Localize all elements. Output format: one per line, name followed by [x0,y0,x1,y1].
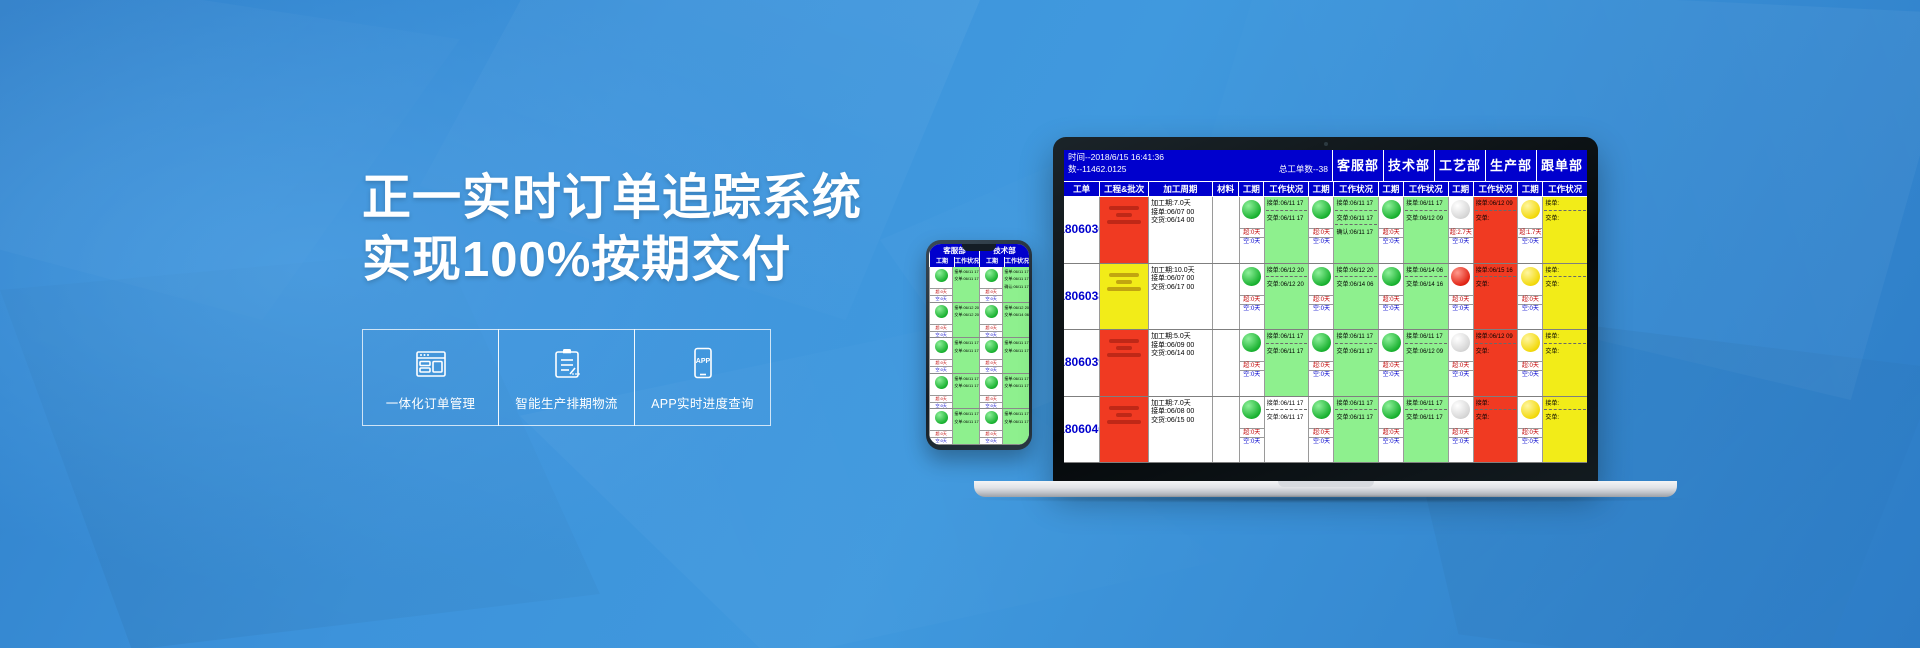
overdue-tag: 超:0天 [1309,361,1333,370]
phone-status-cell-cs[interactable]: 接单:06/11 17交单:06/11 17 [952,267,979,302]
idle-tag: 空:0天 [980,437,1002,444]
column-header-8[interactable]: 工期 [1378,182,1403,196]
duration-cell-1[interactable]: 超:0天空:0天 [1308,197,1333,263]
status-light-green [985,376,998,389]
feature-label: APP实时进度查询 [651,393,754,412]
status-light-green [935,411,948,424]
column-header-4[interactable]: 工期 [1238,182,1263,196]
status-text: 交单:06/11 17 [1334,212,1378,224]
project-batch-cell[interactable] [1099,264,1148,330]
work-status-cell-4[interactable]: 接单:交单: [1542,264,1587,330]
overdue-tag: 超:0天 [1309,428,1333,437]
overdue-tag: 超:0天 [980,324,1002,331]
status-text: 交单:06/11 17 [953,346,979,353]
phone-status-cell-cs[interactable]: 接单:06/11 17交单:06/11 17 [952,374,979,409]
status-text: 确认:06/11 17 [1334,226,1378,238]
phone-status-cell-tech[interactable]: 接单:06/11 17交单:06/11 17 [1002,338,1029,373]
status-light-green [1312,400,1331,419]
duration-cell-4[interactable]: 超:1.7天空:0天 [1517,197,1542,263]
status-text: 接单: [1543,197,1587,209]
column-header-9[interactable]: 工作状况 [1403,182,1448,196]
material-cell[interactable] [1212,197,1239,263]
status-text: 交单: [1474,411,1518,423]
phone-screen: 客服部 技术部 工期 工作状况 工期 工作状况 超:0天空:0天接单:06/11… [929,244,1029,445]
status-light-red [1451,267,1470,286]
status-text: 交单:06/11 17 [1003,346,1029,353]
idle-tag: 空:0天 [1379,437,1403,446]
phone-duration-cell-cs[interactable]: 超:0天空:0天 [929,338,952,373]
dashboard-topbar: 时间--2018/6/15 16:41:36 数--11462.0125 总工单… [1064,150,1587,182]
phone-col-1: 工作状况 [954,257,979,267]
processing-cycle-cell[interactable]: 加工期:7.0天接单:06/08 00交货:06/15 00 [1148,397,1212,463]
table-row[interactable]: 1806038加工期:10.0天接单:06/07 00交货:06/17 00超:… [1064,264,1587,331]
duration-cell-3[interactable]: 超:0天空:0天 [1448,330,1473,396]
status-text: 交单: [1543,278,1587,290]
idle-tag: 空:0天 [1309,437,1333,446]
idle-tag: 空:0天 [930,402,952,409]
overdue-tag: 超:0天 [1449,295,1473,304]
idle-tag: 空:0天 [1518,237,1542,246]
idle-tag: 空:0天 [1240,370,1264,379]
status-text: 交单:06/11 17 [1265,411,1309,423]
status-text: 交单:06/11 17 [953,274,979,281]
status-text: 交单:06/14 06 [1003,310,1029,317]
phone-table-row[interactable]: 超:0天空:0天接单:06/11 17交单:06/11 17超:0天空:0天接单… [929,338,1029,374]
work-status-cell-3[interactable]: 接单:交单: [1473,397,1518,463]
column-header-row: 工单工程&批次加工周期材料工期工作状况工期工作状况工期工作状况工期工作状况工期工… [1064,182,1587,197]
status-light-green [1382,200,1401,219]
column-header-12[interactable]: 工期 [1517,182,1542,196]
clipboard-icon [552,344,582,384]
overdue-tag: 超:0天 [1240,228,1264,237]
duration-cell-2[interactable]: 超:0天空:0天 [1378,197,1403,263]
status-light-green [1382,267,1401,286]
idle-tag: 空:0天 [1240,437,1264,446]
overdue-tag: 超:0天 [1379,228,1403,237]
status-text: 交单:06/12 20 [1265,278,1309,290]
topbar-total: 总工单数--38 [1279,163,1328,175]
webcam-icon [1324,142,1328,146]
status-text: 接单:06/11 17 [1003,267,1029,274]
status-light-grey [1451,200,1470,219]
status-text: 接单:06/11 17 [1265,197,1309,209]
work-status-cell-4[interactable]: 接单:交单: [1542,330,1587,396]
feature-card-order-management[interactable]: 一体化订单管理 [362,329,499,426]
phone-table-row[interactable]: 超:0天空:0天接单:06/11 17交单:06/11 17超:0天空:0天接单… [929,267,1029,303]
column-header-11[interactable]: 工作状况 [1473,182,1518,196]
column-header-10[interactable]: 工期 [1448,182,1473,196]
overdue-tag: 超:0天 [930,395,952,402]
idle-tag: 空:0天 [980,331,1002,338]
status-light-yellow [1521,400,1540,419]
duration-cell-0[interactable]: 超:0天空:0天 [1239,330,1264,396]
work-status-cell-2[interactable]: 接单:06/11 17交单:06/11 17 [1403,397,1448,463]
status-light-green [1312,200,1331,219]
status-light-green [985,305,998,318]
table-row[interactable]: 1806039加工期:5.0天接单:06/09 00交货:06/14 00超:0… [1064,330,1587,397]
phone-status-cell-tech[interactable]: 接单:06/12 20交单:06/14 06 [1002,303,1029,338]
idle-tag: 空:0天 [980,366,1002,373]
hero-copy: 正一实时订单追踪系统 实现100%按期交付 一体化订单管理 [362,168,1002,426]
work-status-cell-2[interactable]: 接单:06/11 17交单:06/12 09 [1403,197,1448,263]
idle-tag: 空:0天 [1449,237,1473,246]
status-text: 接单:06/11 17 [1334,397,1378,409]
phone-duration-cell-tech[interactable]: 超:0天空:0天 [979,303,1002,338]
status-text: 交单: [1543,411,1587,423]
idle-tag: 空:0天 [930,295,952,302]
status-light-green [985,411,998,424]
phone-table-row[interactable]: 超:0天空:0天接单:06/12 20交单:06/12 20超:0天空:0天接单… [929,303,1029,339]
duration-cell-3[interactable]: 超:0天空:0天 [1448,397,1473,463]
overdue-tag: 超:0天 [1309,228,1333,237]
dashboard-icon [414,344,448,384]
overdue-tag: 超:0天 [1449,361,1473,370]
department-header-0[interactable]: 客服部 [1332,150,1383,181]
phone-col-2: 工期 [979,257,1004,267]
work-status-cell-0[interactable]: 接单:06/11 17交单:06/11 17 [1264,197,1309,263]
feature-card-app-query[interactable]: APP APP实时进度查询 [634,329,771,426]
work-status-cell-3[interactable]: 接单:06/12 09交单: [1473,330,1518,396]
duration-cell-0[interactable]: 超:0天空:0天 [1239,197,1264,263]
overdue-tag: 超:0天 [930,324,952,331]
column-header-6[interactable]: 工期 [1308,182,1333,196]
work-status-cell-1[interactable]: 接单:06/11 17交单:06/11 17 [1333,330,1378,396]
phone-duration-cell-cs[interactable]: 超:0天空:0天 [929,303,952,338]
work-order-cell[interactable]: 1806036 [1064,197,1099,263]
column-header-2[interactable]: 加工周期 [1148,182,1212,196]
duration-cell-0[interactable]: 超:0天空:0天 [1239,264,1264,330]
status-text: 接单:06/12 20 [1003,303,1029,310]
status-text: 交单:06/11 17 [953,417,979,424]
status-text: 接单:06/11 17 [1404,397,1448,409]
status-text: 接单: [1543,264,1587,276]
phone-mockup: 客服部 技术部 工期 工作状况 工期 工作状况 超:0天空:0天接单:06/11… [926,240,1032,450]
idle-tag: 空:0天 [1309,370,1333,379]
overdue-tag: 超:0天 [980,430,1002,437]
status-text: 接单: [1474,397,1518,409]
duration-cell-0[interactable]: 超:0天空:0天 [1239,397,1264,463]
idle-tag: 空:0天 [1449,304,1473,313]
overdue-tag: 超:0天 [980,395,1002,402]
table-row[interactable]: 1806040加工期:7.0天接单:06/08 00交货:06/15 00超:0… [1064,397,1587,464]
phone-table-row[interactable]: 超:0天空:0天接单:06/11 17交单:06/11 17超:0天空:0天接单… [929,409,1029,445]
column-header-3[interactable]: 材料 [1212,182,1239,196]
processing-cycle-cell[interactable]: 加工期:7.0天接单:06/07 00交货:06/14 00 [1148,197,1212,263]
overdue-tag: 超:0天 [1379,428,1403,437]
duration-cell-2[interactable]: 超:0天空:0天 [1378,264,1403,330]
status-text: 接单:06/12 20 [1265,264,1309,276]
phone-status-cell-cs[interactable]: 接单:06/11 17交单:06/11 17 [952,338,979,373]
idle-tag: 空:0天 [1379,370,1403,379]
laptop-base-shadow [963,495,1688,503]
idle-tag: 空:0天 [1449,437,1473,446]
work-status-cell-1[interactable]: 接单:06/11 17交单:06/11 17 [1333,397,1378,463]
status-text: 交单:06/14 06 [1334,278,1378,290]
duration-cell-1[interactable]: 超:0天空:0天 [1308,397,1333,463]
phone-duration-cell-cs[interactable]: 超:0天空:0天 [929,409,952,444]
status-text: 接单:06/11 17 [1003,374,1029,381]
status-text: 交单:06/12 09 [1404,345,1448,357]
status-text: 接单:06/11 17 [953,267,979,274]
phone-duration-cell-cs[interactable]: 超:0天空:0天 [929,374,952,409]
status-text: 交单:06/11 17 [1334,411,1378,423]
status-text: 交单:06/11 17 [1003,417,1029,424]
dashboard-table-body[interactable]: 1806036加工期:7.0天接单:06/07 00交货:06/14 00超:0… [1064,197,1587,463]
status-light-green [935,340,948,353]
idle-tag: 空:0天 [1309,237,1333,246]
overdue-tag: 超:0天 [930,288,952,295]
phone-status-cell-tech[interactable]: 接单:06/11 17交单:06/11 17确认:06/11 17 [1002,267,1029,302]
idle-tag: 空:0天 [980,295,1002,302]
idle-tag: 空:0天 [1379,304,1403,313]
status-light-green [1242,267,1261,286]
status-text: 接单:06/11 17 [1334,197,1378,209]
status-text: 交单:06/11 17 [1265,345,1309,357]
status-light-grey [1451,333,1470,352]
status-text: 交单:06/11 17 [1003,274,1029,281]
topbar-count: 数--11462.0125 [1068,163,1126,175]
phone-duration-cell-tech[interactable]: 超:0天空:0天 [979,267,1002,302]
idle-tag: 空:0天 [980,402,1002,409]
status-text: 交单:06/11 17 [1334,345,1378,357]
status-text: 接单:06/12 09 [1474,330,1518,342]
status-text: 交单:06/11 17 [953,381,979,388]
phone-notch [962,244,996,251]
phone-column-header: 工期 工作状况 工期 工作状况 [929,257,1029,267]
status-light-green [935,269,948,282]
phone-duration-cell-cs[interactable]: 超:0天空:0天 [929,267,952,302]
phone-table-row[interactable]: 超:0天空:0天接单:06/11 17交单:06/11 17超:0天空:0天接单… [929,374,1029,410]
status-light-green [1312,333,1331,352]
status-text: 交单:06/11 17 [1404,411,1448,423]
material-cell[interactable] [1212,264,1239,330]
work-status-cell-4[interactable]: 接单:交单: [1542,197,1587,263]
status-text: 接单:06/15 16 [1474,264,1518,276]
status-light-green [1382,400,1401,419]
phone-table-body[interactable]: 超:0天空:0天接单:06/11 17交单:06/11 17超:0天空:0天接单… [929,267,1029,445]
department-header-3[interactable]: 生产部 [1485,150,1536,181]
work-order-cell[interactable]: 1806040 [1064,397,1099,463]
work-status-cell-2[interactable]: 接单:06/11 17交单:06/12 09 [1403,330,1448,396]
headline-line-2: 实现100%按期交付 [362,230,1002,292]
laptop-lid: 时间--2018/6/15 16:41:36 数--11462.0125 总工单… [1053,137,1598,485]
status-text: 交单:06/11 17 [1265,212,1309,224]
status-text: 接单:06/11 17 [1003,409,1029,416]
status-text: 交单:06/14 16 [1404,278,1448,290]
column-header-13[interactable]: 工作状况 [1542,182,1587,196]
status-text: 接单:06/11 17 [1003,338,1029,345]
overdue-tag: 超:0天 [1379,361,1403,370]
phone-col-3: 工作状况 [1004,257,1029,267]
status-light-green [1312,267,1331,286]
status-light-green [985,269,998,282]
work-status-cell-4[interactable]: 接单:交单: [1542,397,1587,463]
overdue-tag: 超:1.7天 [1518,228,1542,237]
idle-tag: 空:0天 [1518,370,1542,379]
overdue-tag: 超:0天 [1518,295,1542,304]
overdue-tag: 超:0天 [1240,428,1264,437]
status-text: 交单: [1474,212,1518,224]
status-light-green [1242,333,1261,352]
duration-cell-2[interactable]: 超:0天空:0天 [1378,397,1403,463]
overdue-tag: 超:0天 [1309,295,1333,304]
status-text: 交单: [1543,212,1587,224]
hero-banner: 正一实时订单追踪系统 实现100%按期交付 一体化订单管理 [0,0,1920,648]
status-light-grey [1451,400,1470,419]
headline-line-1: 正一实时订单追踪系统 [362,168,1002,230]
work-status-cell-2[interactable]: 接单:06/14 06交单:06/14 16 [1403,264,1448,330]
feature-label: 智能生产排期物流 [515,393,617,412]
phone-status-cell-tech[interactable]: 接单:06/11 17交单:06/11 17 [1002,409,1029,444]
order-tracking-dashboard: 时间--2018/6/15 16:41:36 数--11462.0125 总工单… [1064,150,1587,463]
project-batch-cell[interactable] [1099,397,1148,463]
overdue-tag: 超:0天 [1449,428,1473,437]
work-status-cell-1[interactable]: 接单:06/12 20交单:06/14 06 [1333,264,1378,330]
column-header-1[interactable]: 工程&批次 [1099,182,1148,196]
work-status-cell-0[interactable]: 接单:06/11 17交单:06/11 17 [1264,330,1309,396]
status-light-green [935,305,948,318]
status-text: 交单: [1474,278,1518,290]
idle-tag: 空:0天 [930,331,952,338]
status-text: 接单:06/12 20 [1334,264,1378,276]
status-text: 交单: [1474,345,1518,357]
status-text: 接单:06/11 17 [953,409,979,416]
status-text: 接单:06/11 17 [1334,330,1378,342]
feature-label: 一体化订单管理 [386,393,476,412]
phone-col-0: 工期 [929,257,954,267]
duration-cell-1[interactable]: 超:0天空:0天 [1308,330,1333,396]
overdue-tag: 超:0天 [930,359,952,366]
phone-duration-cell-tech[interactable]: 超:0天空:0天 [979,338,1002,373]
duration-cell-3[interactable]: 超:2.7天空:0天 [1448,197,1473,263]
status-text: 接单:06/11 17 [1265,397,1309,409]
laptop-screen: 时间--2018/6/15 16:41:36 数--11462.0125 总工单… [1064,150,1587,463]
material-cell[interactable] [1212,330,1239,396]
work-status-cell-3[interactable]: 接单:06/12 09交单: [1473,197,1518,263]
work-status-cell-0[interactable]: 接单:06/11 17交单:06/11 17 [1264,397,1309,463]
project-batch-cell[interactable] [1099,197,1148,263]
status-text: 接单: [1543,397,1587,409]
idle-tag: 空:0天 [930,366,952,373]
phone-status-cell-tech[interactable]: 接单:06/11 17交单:06/11 17 [1002,374,1029,409]
material-cell[interactable] [1212,397,1239,463]
overdue-tag: 超:0天 [930,430,952,437]
work-order-cell[interactable]: 1806038 [1064,264,1099,330]
duration-cell-3[interactable]: 超:0天空:0天 [1448,264,1473,330]
status-text: 接单:06/11 17 [953,374,979,381]
duration-cell-4[interactable]: 超:0天空:0天 [1517,330,1542,396]
status-light-yellow [1521,333,1540,352]
feature-card-production-scheduling[interactable]: 智能生产排期物流 [498,329,635,426]
project-batch-cell[interactable] [1099,330,1148,396]
idle-tag: 空:0天 [1240,237,1264,246]
status-text: 交单:06/12 20 [953,310,979,317]
work-order-cell[interactable]: 1806039 [1064,330,1099,396]
svg-text:APP: APP [695,358,710,365]
work-status-cell-1[interactable]: 接单:06/11 17交单:06/11 17确认:06/11 17 [1333,197,1378,263]
topbar-info: 时间--2018/6/15 16:41:36 数--11462.0125 总工单… [1064,150,1332,181]
status-text: 接单:06/11 17 [1404,330,1448,342]
column-header-5[interactable]: 工作状况 [1263,182,1308,196]
overdue-tag: 超:0天 [1240,295,1264,304]
status-light-yellow [1521,200,1540,219]
overdue-tag: 超:0天 [1518,428,1542,437]
duration-cell-4[interactable]: 超:0天空:0天 [1517,264,1542,330]
department-header-4[interactable]: 跟单部 [1536,150,1587,181]
status-text: 接单:06/14 06 [1404,264,1448,276]
work-status-cell-0[interactable]: 接单:06/12 20交单:06/12 20 [1264,264,1309,330]
status-light-green [1242,200,1261,219]
overdue-tag: 超:0天 [980,359,1002,366]
status-text: 接单:06/11 17 [953,338,979,345]
status-text: 接单:06/12 09 [1474,197,1518,209]
phone-status-cell-cs[interactable]: 接单:06/11 17交单:06/11 17 [952,409,979,444]
status-light-green [1382,333,1401,352]
work-status-cell-3[interactable]: 接单:06/15 16交单: [1473,264,1518,330]
overdue-tag: 超:0天 [1379,295,1403,304]
duration-cell-4[interactable]: 超:0天空:0天 [1517,397,1542,463]
duration-cell-2[interactable]: 超:0天空:0天 [1378,330,1403,396]
processing-cycle-cell[interactable]: 加工期:10.0天接单:06/07 00交货:06/17 00 [1148,264,1212,330]
status-text: 确认:06/11 17 [1003,282,1029,289]
duration-cell-1[interactable]: 超:0天空:0天 [1308,264,1333,330]
idle-tag: 空:0天 [1518,304,1542,313]
phone-duration-cell-tech[interactable]: 超:0天空:0天 [979,374,1002,409]
phone-status-cell-cs[interactable]: 接单:06/12 20交单:06/12 20 [952,303,979,338]
status-text: 接单:06/11 17 [1404,197,1448,209]
overdue-tag: 超:0天 [1240,361,1264,370]
idle-tag: 空:0天 [1518,437,1542,446]
idle-tag: 空:0天 [1449,370,1473,379]
idle-tag: 空:0天 [930,437,952,444]
department-header-2[interactable]: 工艺部 [1434,150,1485,181]
status-light-green [1242,400,1261,419]
idle-tag: 空:0天 [1240,304,1264,313]
column-header-0[interactable]: 工单 [1064,182,1099,196]
status-text: 接单: [1543,330,1587,342]
status-text: 交单:06/12 09 [1404,212,1448,224]
department-header-1[interactable]: 技术部 [1383,150,1434,181]
overdue-tag: 超:0天 [1518,361,1542,370]
feature-list: 一体化订单管理 [362,329,1002,426]
processing-cycle-cell[interactable]: 加工期:5.0天接单:06/09 00交货:06/14 00 [1148,330,1212,396]
idle-tag: 空:0天 [1379,237,1403,246]
status-text: 接单:06/11 17 [1265,330,1309,342]
idle-tag: 空:0天 [1309,304,1333,313]
status-text: 接单:06/12 20 [953,303,979,310]
status-text: 交单: [1543,345,1587,357]
status-light-green [985,340,998,353]
status-light-green [935,376,948,389]
column-header-7[interactable]: 工作状况 [1333,182,1378,196]
mobile-app-icon: APP [690,344,716,384]
topbar-time: 时间--2018/6/15 16:41:36 [1068,151,1164,163]
status-text: 交单:06/11 17 [1003,381,1029,388]
laptop-mockup: 时间--2018/6/15 16:41:36 数--11462.0125 总工单… [1053,137,1598,485]
overdue-tag: 超:2.7天 [1449,228,1473,237]
table-row[interactable]: 1806036加工期:7.0天接单:06/07 00交货:06/14 00超:0… [1064,197,1587,264]
overdue-tag: 超:0天 [980,288,1002,295]
department-header-row: 客服部技术部工艺部生产部跟单部 [1332,150,1587,181]
status-light-yellow [1521,267,1540,286]
phone-duration-cell-tech[interactable]: 超:0天空:0天 [979,409,1002,444]
